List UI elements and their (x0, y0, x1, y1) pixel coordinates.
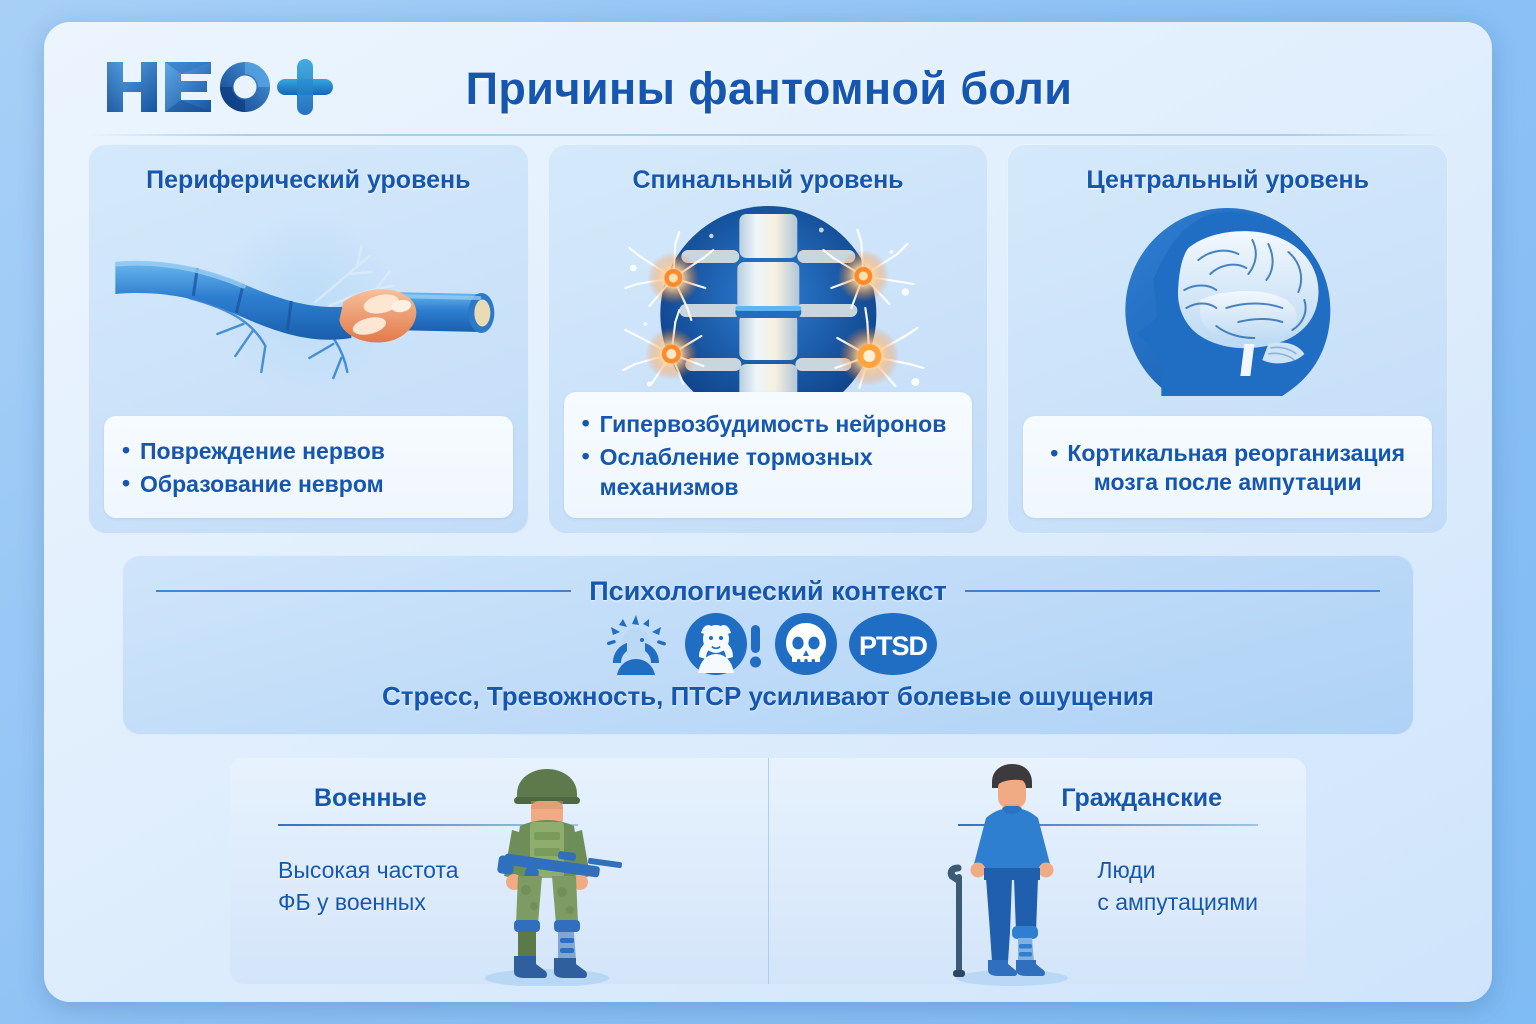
list-item: Ослабление тормозных механизмов (574, 443, 963, 502)
levels-card-group: Периферический уровень (88, 144, 1448, 534)
skull-icon (775, 613, 837, 675)
group-description: Высокая частота ФБ у военных (278, 854, 459, 918)
group-description-line1: Люди (1097, 854, 1258, 886)
card-bullet-list: Кортикальная реорганизация мозга после а… (1023, 416, 1432, 518)
card-title: Периферический уровень (88, 166, 529, 195)
svg-text:PTSD: PTSD (859, 631, 928, 661)
psychological-icon-row: PTSD (122, 613, 1414, 675)
card-peripheral-level[interactable]: Периферический уровень (88, 144, 529, 534)
page-title: Причины фантомной боли (374, 58, 1164, 120)
damaged-nerve-icon (88, 206, 529, 396)
card-title: Спинальный уровень (548, 166, 989, 195)
group-civilians[interactable]: Гражданские Люди с ампутациями (768, 758, 1306, 984)
head-brain-icon (1007, 206, 1448, 396)
population-groups-section: Военные Высокая частота ФБ у военных (230, 758, 1306, 984)
stressed-person-icon (599, 613, 673, 675)
neo-plus-logo (99, 56, 339, 116)
infographic-poster: Причины фантомной боли Периферический ур… (44, 22, 1492, 1002)
header-divider (88, 134, 1448, 136)
rule-right (965, 590, 1380, 592)
psychological-context-caption: Стресс, Тревожность, ПТСР усиливают боле… (122, 681, 1414, 712)
psychological-context-header: Психологический контекст (122, 573, 1414, 609)
card-title: Центральный уровень (1007, 166, 1448, 195)
soldier-with-prosthetic-leg-illustration (462, 764, 632, 986)
group-description: Люди с ампутациями (1097, 854, 1258, 918)
card-bullet-list: Повреждение нервов Образование невром (104, 416, 513, 518)
group-description-line2: с ампутациями (1097, 886, 1258, 918)
list-item: Гипервозбудимость нейронов (574, 410, 963, 439)
card-bullet-list: Гипервозбудимость нейронов Ослабление то… (564, 392, 973, 518)
group-description-line2: ФБ у военных (278, 886, 459, 918)
section-title: Психологический контекст (589, 576, 946, 607)
card-spinal-level[interactable]: Спинальный уровень (548, 144, 989, 534)
list-item: Кортикальная реорганизация мозга после а… (1033, 439, 1422, 498)
group-label: Военные (314, 784, 427, 813)
psychological-context-section: Психологический контекст (122, 555, 1414, 735)
list-item: Образование невром (114, 470, 503, 499)
group-military[interactable]: Военные Высокая частота ФБ у военных (230, 758, 768, 984)
ptsd-badge-icon: PTSD (849, 613, 937, 675)
group-description-line1: Высокая частота (278, 854, 459, 886)
civilian-with-cane-illustration (934, 760, 1084, 986)
anxious-person-exclamation-icon (685, 613, 763, 675)
list-item: Повреждение нервов (114, 437, 503, 466)
spinal-cord-neurons-icon (548, 206, 989, 396)
group-label: Гражданские (1061, 784, 1222, 813)
header: Причины фантомной боли (44, 22, 1492, 130)
rule-left (156, 590, 571, 592)
card-central-level[interactable]: Центральный уровень (1007, 144, 1448, 534)
